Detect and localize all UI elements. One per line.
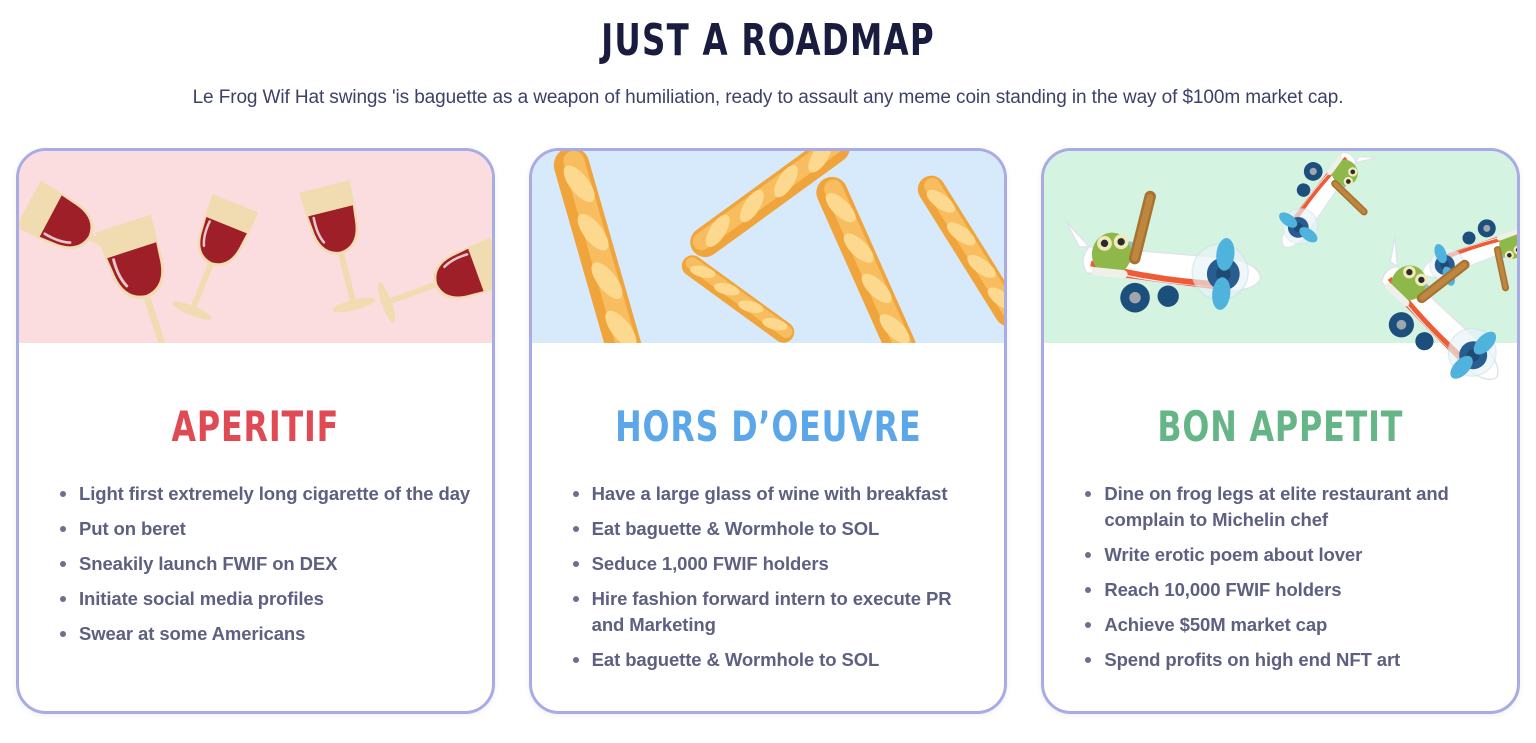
list-item: Achieve $50M market cap: [1076, 612, 1499, 638]
list-item: Reach 10,000 FWIF holders: [1076, 577, 1499, 603]
roadmap-card-hors-doeuvre[interactable]: HORS D’OEUVRE Have a large glass of wine…: [529, 148, 1008, 714]
list-item: Spend profits on high end NFT art: [1076, 647, 1499, 673]
list-item: Swear at some Americans: [51, 621, 474, 647]
list-item: Have a large glass of wine with breakfas…: [564, 481, 987, 507]
list-item: Dine on frog legs at elite restaurant an…: [1076, 481, 1499, 533]
card-art-aperitif: [19, 151, 492, 343]
list-item: Seduce 1,000 FWIF holders: [564, 551, 987, 577]
frog-planes-illustration: [1044, 151, 1520, 421]
list-item: Eat baguette & Wormhole to SOL: [564, 516, 987, 542]
roadmap-card-bon-appetit[interactable]: BON APPETIT Dine on frog legs at elite r…: [1041, 148, 1520, 714]
list-item: Hire fashion forward intern to execute P…: [564, 586, 987, 638]
list-item: Put on beret: [51, 516, 474, 542]
card-list-aperitif: Light first extremely long cigarette of …: [51, 481, 474, 656]
roadmap-card-aperitif[interactable]: APERITIF Light first extremely long ciga…: [16, 148, 495, 714]
list-item: Initiate social media profiles: [51, 586, 474, 612]
card-list-hors-doeuvre: Have a large glass of wine with breakfas…: [564, 481, 987, 682]
page-subtitle: Le Frog Wif Hat swings 'is baguette as a…: [0, 84, 1536, 112]
card-heading-bon-appetit: BON APPETIT: [1082, 403, 1479, 451]
wine-glasses-illustration: [19, 151, 495, 421]
list-item: Light first extremely long cigarette of …: [51, 481, 474, 507]
card-art-bon-appetit: [1044, 151, 1517, 343]
list-item: Eat baguette & Wormhole to SOL: [564, 647, 987, 673]
baguettes-illustration: [532, 151, 1008, 421]
list-item: Sneakily launch FWIF on DEX: [51, 551, 474, 577]
roadmap-section: JUST A ROADMAP Le Frog Wif Hat swings 'i…: [0, 0, 1536, 743]
card-heading-hors-doeuvre: HORS D’OEUVRE: [569, 403, 966, 451]
card-list-bon-appetit: Dine on frog legs at elite restaurant an…: [1076, 481, 1499, 682]
list-item: Write erotic poem about lover: [1076, 542, 1499, 568]
card-art-hors-doeuvre: [532, 151, 1005, 343]
card-heading-aperitif: APERITIF: [57, 403, 454, 451]
page-title: JUST A ROADMAP: [138, 14, 1398, 68]
roadmap-cards-row: APERITIF Light first extremely long ciga…: [16, 148, 1520, 714]
